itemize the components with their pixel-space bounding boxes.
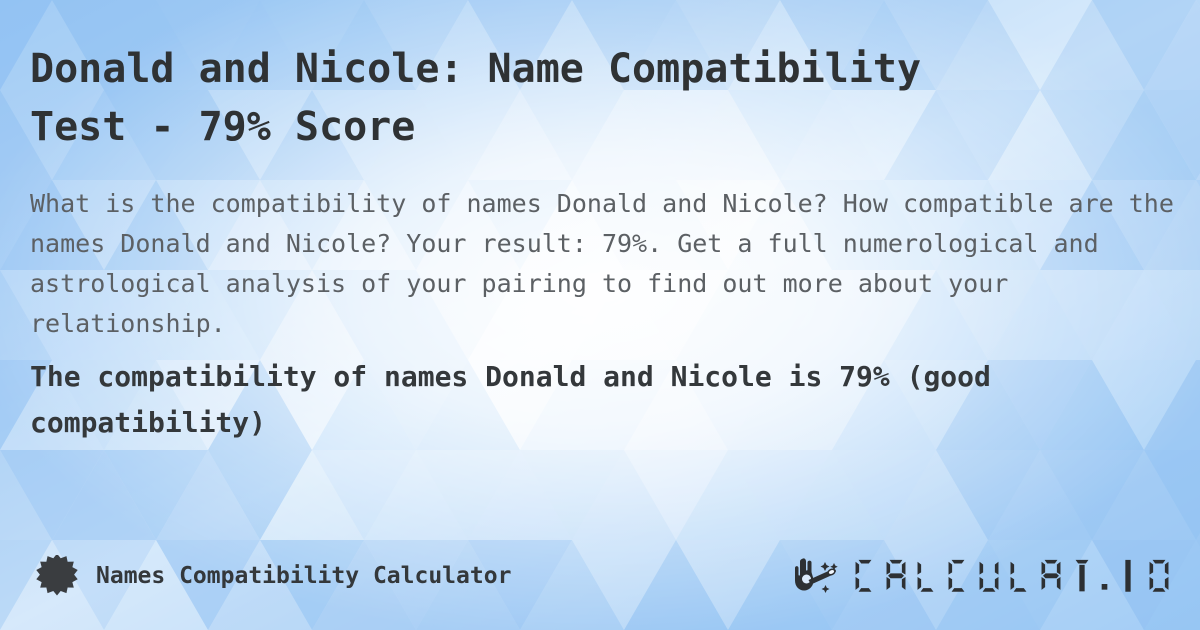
wordmark-letter [976,558,1002,594]
wordmark-letter [1115,558,1141,594]
calculatio-brand-logo[interactable] [794,550,1172,602]
wordmark-letter [1069,558,1095,594]
site-name-label: Names Compatibility Calculator [96,563,511,589]
wordmark-letter [1100,558,1110,594]
wordmark-letter [1146,558,1172,594]
page-description: What is the compatibility of names Donal… [30,184,1176,344]
card-footer: Names Compatibility Calculator [0,548,1200,608]
hand-magic-wand-icon [794,554,846,598]
wordmark-letter [883,558,909,594]
result-statement: The compatibility of names Donald and Ni… [30,354,1180,446]
page-title-line-1: Donald and Nicole: Name Compatibility [30,46,921,92]
wordmark-letter [945,558,971,594]
wordmark-letter [1038,558,1064,594]
calculatio-wordmark [852,558,1172,594]
wordmark-letter [914,558,940,594]
wordmark-letter [852,558,878,594]
compatibility-result-card: Donald and Nicole: Name CompatibilityTes… [0,0,1200,630]
page-title: Donald and Nicole: Name CompatibilityTes… [30,40,1170,156]
wordmark-letter [1007,558,1033,594]
site-identity: Names Compatibility Calculator [36,548,511,604]
starburst-badge-icon [36,555,78,597]
page-title-line-2: Test - 79% Score [30,104,415,150]
